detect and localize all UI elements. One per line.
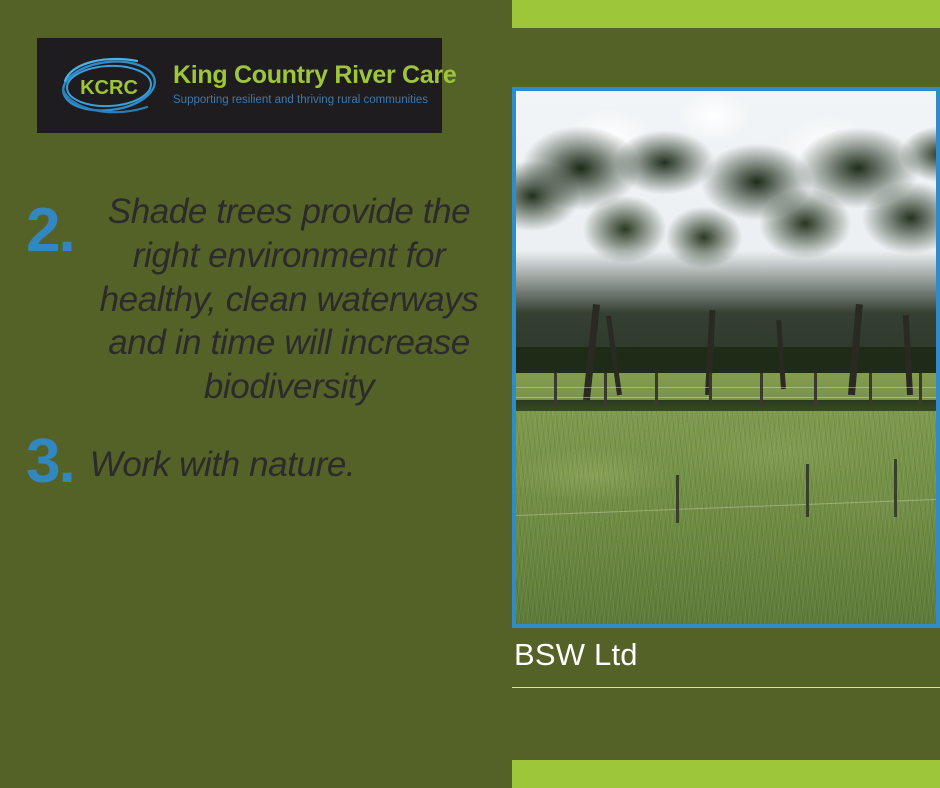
lime-accent-bar-top: [512, 0, 940, 28]
point-3-number: 3.: [26, 433, 74, 492]
caption-divider: [512, 687, 940, 688]
photo-fence-post: [919, 373, 922, 405]
photo-fence-post: [869, 373, 872, 405]
photo-foreground-post: [676, 475, 679, 523]
photo-fence-wire: [516, 387, 936, 388]
photo-canopy-shadow: [516, 251, 936, 390]
kcrc-logo-card: KCRC King Country River Care Supporting …: [37, 38, 442, 133]
photo-frame: [512, 87, 940, 628]
photo-foreground-post: [894, 459, 897, 518]
photo-fence-post: [604, 373, 607, 405]
lime-accent-bar-bottom: [512, 760, 940, 788]
poster-canvas: KCRC King Country River Care Supporting …: [0, 0, 940, 788]
photo-fence-post: [760, 373, 763, 405]
photo-foreground-grass: [516, 411, 936, 624]
logo-tagline: Supporting resilient and thriving rural …: [173, 93, 456, 109]
point-3-text: Work with nature.: [90, 433, 356, 487]
point-2-number: 2.: [26, 202, 74, 261]
photo-fence-wire: [516, 397, 936, 398]
photo-caption-area: BSW Ltd: [512, 636, 940, 688]
svg-text:KCRC: KCRC: [80, 77, 138, 99]
photo-fence-post: [554, 373, 557, 405]
photo-fence-post: [655, 373, 658, 405]
rural-landscape-photo: [516, 91, 936, 624]
points-column: 2. Shade trees provide the right environ…: [0, 190, 512, 492]
logo-title: King Country River Care: [173, 62, 456, 90]
photo-fence-post: [814, 373, 817, 405]
photo-foreground-post: [806, 464, 809, 517]
kcrc-ellipse-logo-icon: KCRC: [55, 53, 163, 119]
numbered-point-2: 2. Shade trees provide the right environ…: [0, 190, 512, 409]
photo-fence-post: [709, 373, 712, 405]
point-2-text: Shade trees provide the right environmen…: [22, 190, 494, 409]
photo-caption: BSW Ltd: [512, 636, 940, 673]
logo-text-block: King Country River Care Supporting resil…: [173, 62, 456, 108]
numbered-point-3: 3. Work with nature.: [0, 433, 512, 492]
photo-grass-texture: [516, 411, 936, 624]
